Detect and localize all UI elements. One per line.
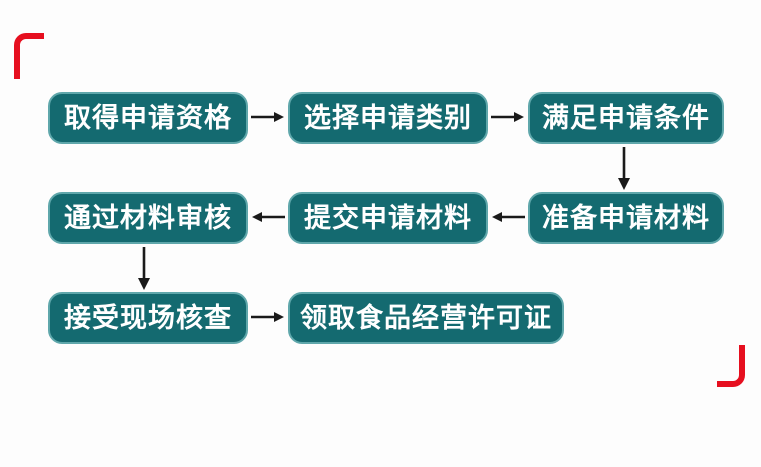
flow-node-选择申请类别[interactable]: 选择申请类别 [288, 92, 488, 144]
arrow-right-node2-to-node3-icon [490, 105, 526, 129]
flow-node-提交申请材料[interactable]: 提交申请材料 [288, 192, 488, 244]
corner-bracket-bottom-right-icon [717, 345, 745, 387]
arrow-right-node7-to-node8-icon [250, 305, 286, 329]
arrow-left-node6-to-node5-icon [490, 205, 526, 229]
flow-node-通过材料审核[interactable]: 通过材料审核 [48, 192, 248, 244]
flow-node-label: 通过材料审核 [64, 205, 232, 232]
flow-node-label: 领取食品经营许可证 [300, 305, 552, 332]
flow-node-label: 接受现场核查 [64, 305, 232, 332]
flow-node-接受现场核查[interactable]: 接受现场核查 [48, 292, 248, 344]
flow-node-领取食品经营许可证[interactable]: 领取食品经营许可证 [288, 292, 564, 344]
arrow-down-node4-to-node7-icon [132, 246, 156, 292]
flow-node-label: 取得申请资格 [64, 105, 232, 132]
flow-node-label: 准备申请材料 [542, 205, 710, 232]
flow-node-取得申请资格[interactable]: 取得申请资格 [48, 92, 248, 144]
flow-node-label: 提交申请材料 [304, 205, 472, 232]
arrow-left-node5-to-node4-icon [250, 205, 286, 229]
flow-node-label: 满足申请条件 [542, 105, 710, 132]
flowchart-canvas: 取得申请资格 选择申请类别 满足申请条件 通过材料审核 [0, 0, 761, 467]
flow-node-准备申请材料[interactable]: 准备申请材料 [528, 192, 724, 244]
arrow-right-node1-to-node2-icon [250, 105, 286, 129]
flow-node-满足申请条件[interactable]: 满足申请条件 [528, 92, 724, 144]
flow-node-label: 选择申请类别 [304, 105, 472, 132]
arrow-down-node3-to-node6-icon [612, 146, 636, 192]
corner-bracket-top-left-icon [14, 33, 44, 79]
